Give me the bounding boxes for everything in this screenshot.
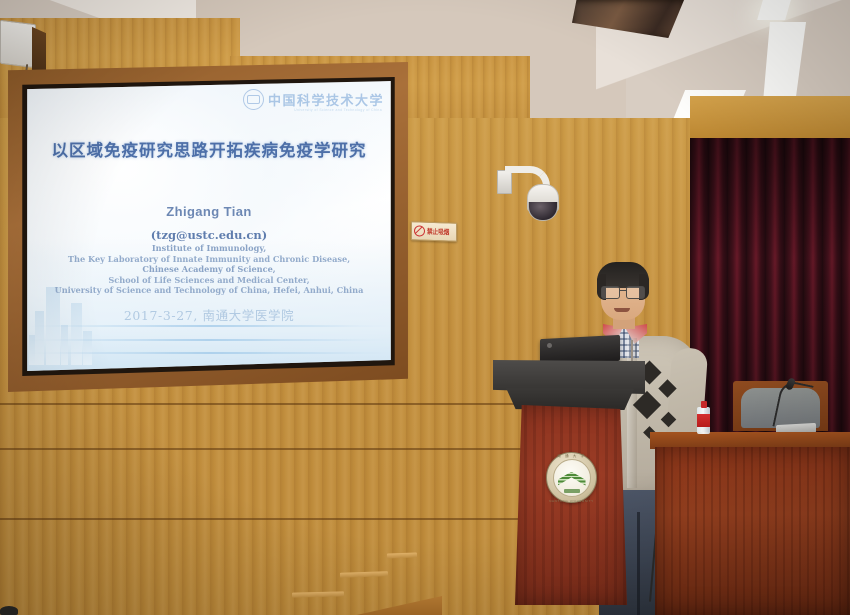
slide-date-venue: 2017-3-27, 南通大学医学院	[25, 305, 393, 324]
seal-en-text: NANTONG UNIVERSITY	[547, 499, 596, 503]
ceiling-light-icon	[757, 0, 791, 20]
trouser-seam	[637, 512, 640, 615]
affiliation-line: Institute of Immunology,	[25, 243, 393, 254]
ustc-logo-cn: 中国科学技术大学	[268, 90, 384, 109]
bottle-label	[697, 414, 710, 427]
slide-affiliations: Institute of Immunology, The Key Laborat…	[25, 243, 393, 296]
no-smoking-icon	[414, 225, 425, 236]
presenter-mouth	[614, 308, 630, 312]
affiliation-line: School of Life Sciences and Medical Cent…	[25, 275, 393, 286]
sign-label: 禁止吸烟	[427, 226, 449, 237]
nantong-university-seal-icon: 南 通 大 学 NANTONG UNIVERSITY	[546, 452, 597, 503]
eyeglasses-icon	[600, 286, 646, 297]
stage-step-edge	[387, 552, 417, 558]
water-bottle	[697, 401, 710, 434]
floor-object	[0, 606, 18, 615]
slide-email: (tzg@ustc.edu.cn)	[25, 228, 393, 242]
ustc-logo-en: University of Science and Technology of …	[294, 108, 382, 112]
head-table-front	[655, 447, 850, 615]
podium-body	[515, 405, 627, 605]
no-smoking-sign: 禁止吸烟	[411, 221, 457, 242]
affiliation-line: Chinese Academy of Science,	[25, 264, 393, 275]
affiliation-line: University of Science and Technology of …	[25, 285, 393, 296]
bottle-cap	[701, 401, 707, 408]
eyeglasses-bridge	[619, 290, 626, 291]
projected-slide: 中国科学技术大学 University of Science and Techn…	[25, 81, 393, 371]
ustc-logo: 中国科学技术大学 University of Science and Techn…	[243, 89, 384, 110]
ustc-seal-icon	[243, 89, 264, 110]
affiliation-line: The Key Laboratory of Innate Immunity an…	[25, 254, 393, 265]
seal-tag	[564, 489, 580, 493]
wall-speaker-icon	[0, 20, 36, 68]
seal-cn-text: 南 通 大 学	[547, 454, 596, 459]
seal-chevron-icon	[558, 472, 586, 486]
slide-title: 以区域免疫研究思路开拓疾病免疫学研究	[25, 137, 393, 161]
seal-inner	[553, 459, 591, 497]
curtain-pelmet	[690, 96, 850, 142]
lecture-hall-photo: 中国科学技术大学 University of Science and Techn…	[0, 0, 850, 615]
laptop-logo-icon	[547, 343, 552, 348]
slide-author: Zhigang Tian	[25, 204, 393, 219]
